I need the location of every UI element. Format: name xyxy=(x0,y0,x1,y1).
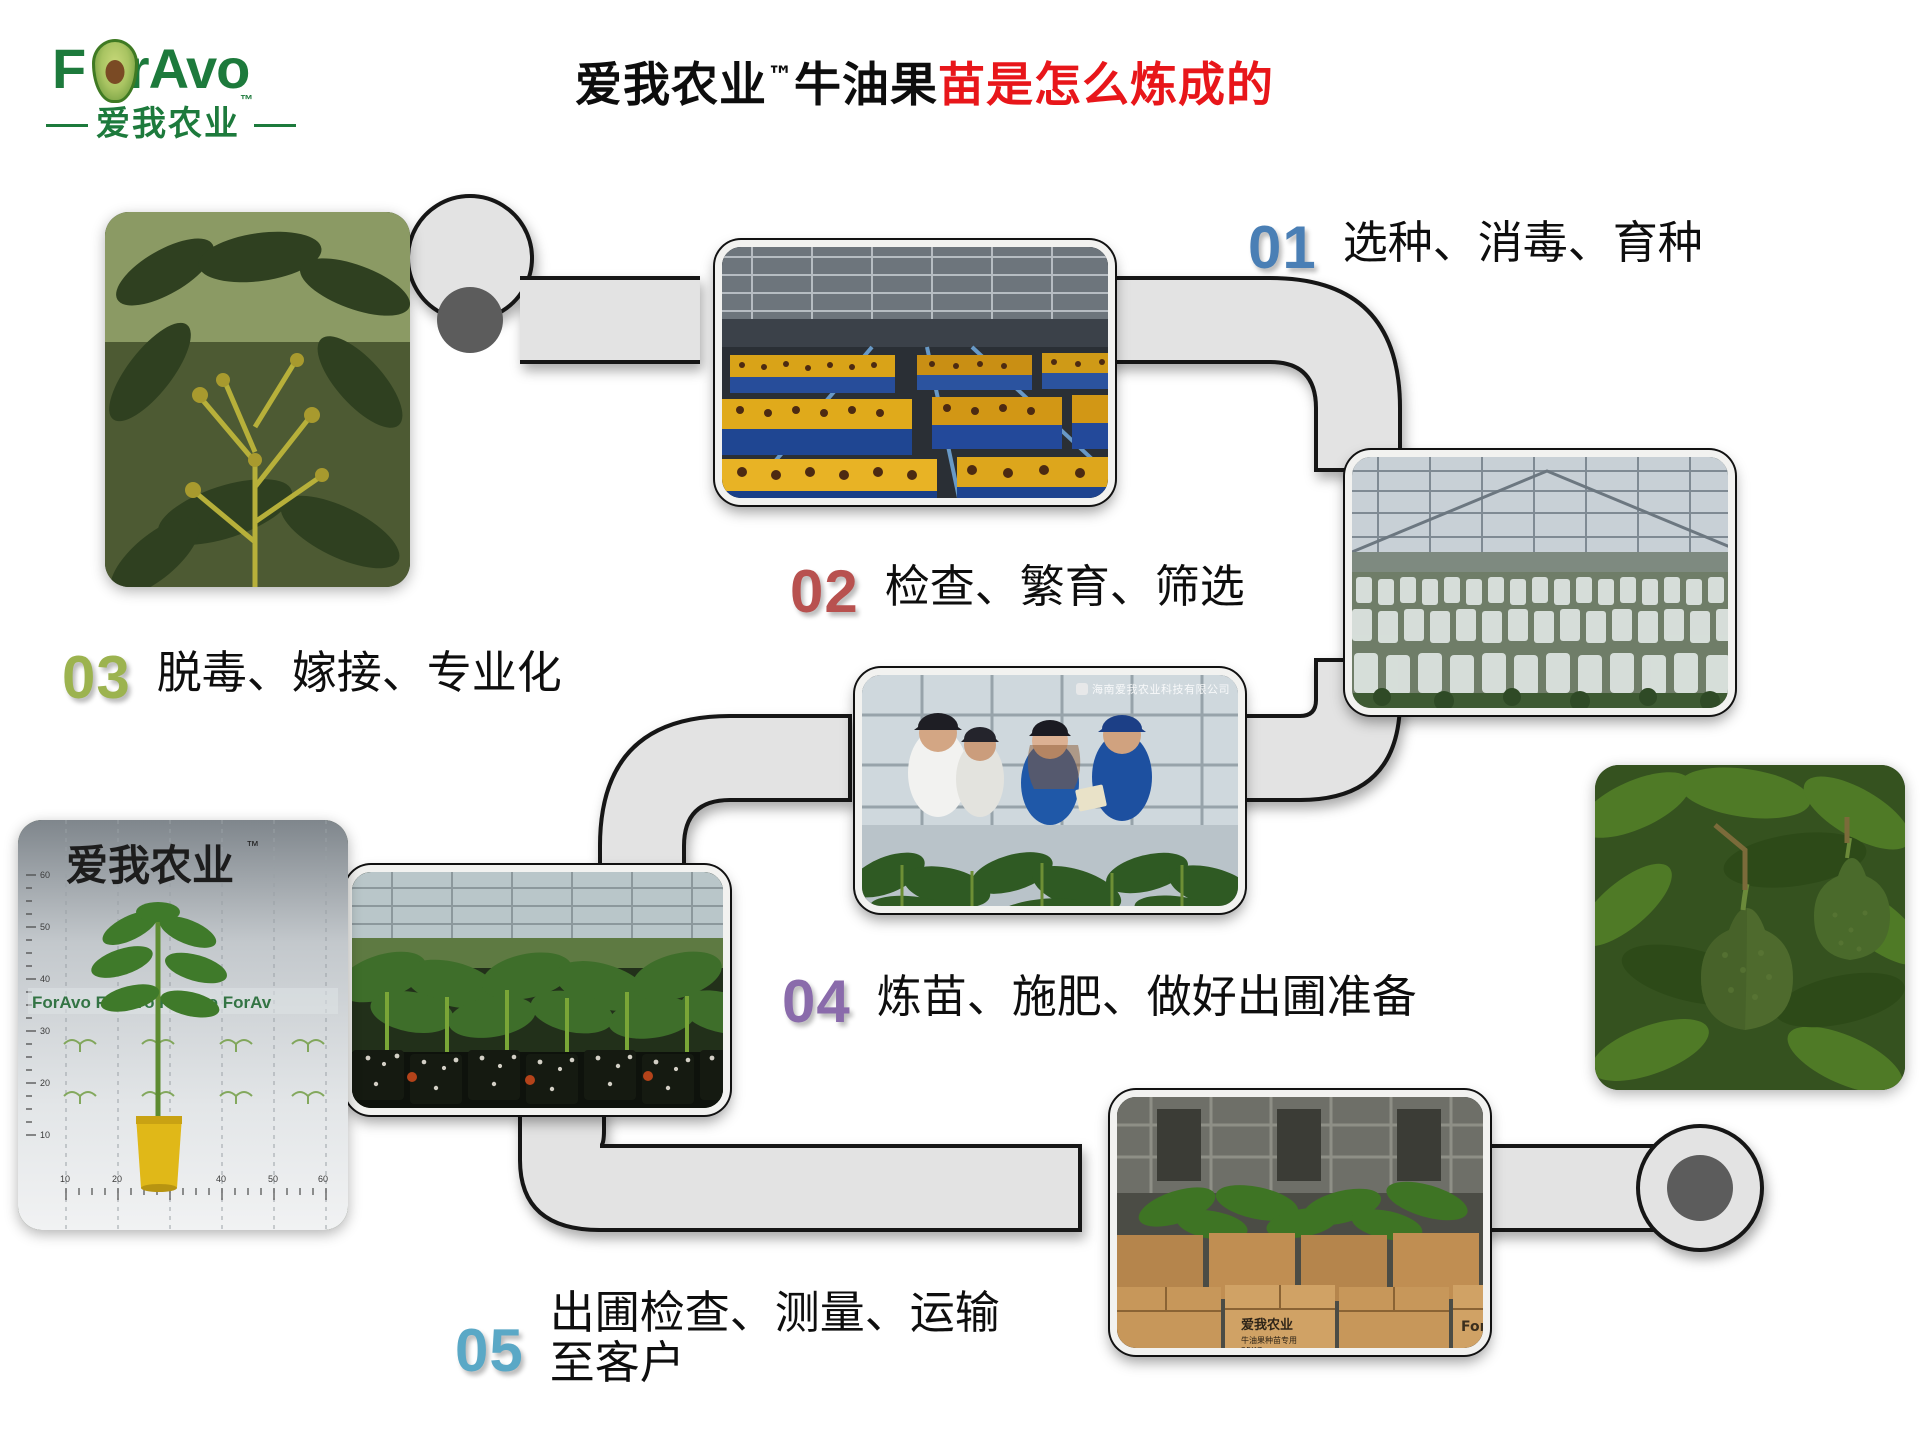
step-03: 03 脱毒、嫁接、专业化 xyxy=(62,648,562,708)
svg-text:™: ™ xyxy=(246,838,259,853)
svg-text:牛油果种苗专用: 牛油果种苗专用 xyxy=(1241,1335,1297,1345)
flow-end-node xyxy=(1667,1155,1733,1221)
svg-text:20: 20 xyxy=(40,1078,50,1088)
svg-text:10: 10 xyxy=(40,1130,50,1140)
step-05-text: 出圃检查、测量、运输 至客户 xyxy=(550,1288,1000,1389)
step-04: 04 炼苗、施肥、做好出圃准备 xyxy=(782,972,1417,1032)
svg-text:40: 40 xyxy=(216,1174,226,1184)
photo-packed-cartons-shipping: 爱我农业 牛油果种苗专用 25KG 订购电话：400-615-9916 ForA xyxy=(1110,1090,1490,1355)
step-03-number: 03 xyxy=(62,648,131,708)
infographic-page: FOrAvo 爱我农业 ™ 爱我农业™牛油果苗是怎么炼成的 xyxy=(0,0,1920,1440)
photo-staff-inspecting-seedlings: 海南爱我农业科技有限公司 xyxy=(855,668,1245,913)
svg-text:爱我农业: 爱我农业 xyxy=(66,841,234,890)
step-02: 02 检查、繁育、筛选 xyxy=(790,562,1245,622)
step-05-number: 05 xyxy=(455,1321,524,1381)
step-01-number: 01 xyxy=(1248,218,1317,278)
photo-avocado-flower-branch xyxy=(105,212,410,587)
step-02-text: 检查、繁育、筛选 xyxy=(885,562,1245,612)
step-01-text: 选种、消毒、育种 xyxy=(1343,218,1703,268)
photo-avocado-fruit-on-tree xyxy=(1595,765,1905,1090)
step-05: 05 出圃检查、测量、运输 至客户 xyxy=(455,1288,1000,1383)
svg-text:30: 30 xyxy=(40,1026,50,1036)
svg-text:60: 60 xyxy=(40,870,50,880)
svg-text:20: 20 xyxy=(112,1174,122,1184)
svg-text:60: 60 xyxy=(318,1174,328,1184)
photo-measured-seedling-ruler: 爱我农业 ™ 605040 302010 102030 405060 ForAv… xyxy=(18,820,348,1230)
step-04-text: 炼苗、施肥、做好出圃准备 xyxy=(877,972,1417,1022)
step-01: 01 选种、消毒、育种 xyxy=(1248,218,1703,278)
flow-start-node xyxy=(437,287,503,353)
svg-text:爱我农业: 爱我农业 xyxy=(1241,1317,1293,1333)
photo-greenhouse-grafting-bags xyxy=(1345,450,1735,715)
svg-text:50: 50 xyxy=(268,1174,278,1184)
watermark-text: 海南爱我农业科技有限公司 xyxy=(1092,681,1230,697)
svg-text:ForA: ForA xyxy=(1461,1319,1483,1335)
step-04-number: 04 xyxy=(782,972,851,1032)
photo-seed-germination-trays xyxy=(715,240,1115,505)
photo-watermark: 海南爱我农业科技有限公司 xyxy=(1076,681,1230,697)
step-03-text: 脱毒、嫁接、专业化 xyxy=(157,648,562,698)
svg-text:40: 40 xyxy=(40,974,50,984)
step-02-number: 02 xyxy=(790,562,859,622)
svg-text:50: 50 xyxy=(40,922,50,932)
photo-potted-seedlings-nursery xyxy=(345,865,730,1115)
watermark-logo-icon xyxy=(1076,683,1088,695)
svg-text:10: 10 xyxy=(60,1174,70,1184)
svg-text:25KG: 25KG xyxy=(1241,1346,1263,1348)
